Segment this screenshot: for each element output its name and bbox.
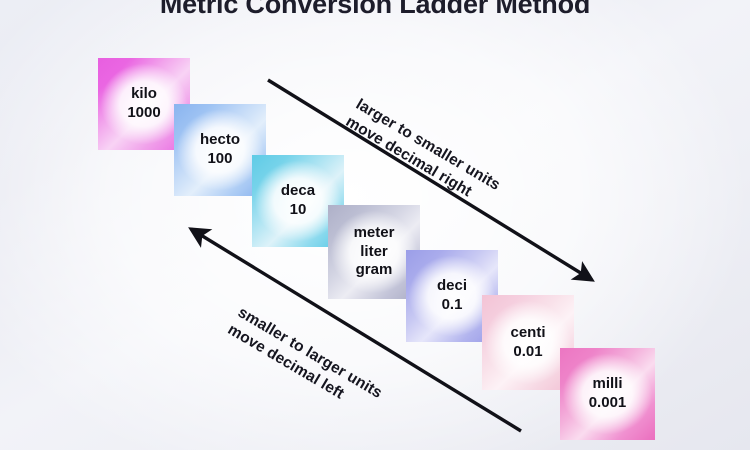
arrow-caption-smaller-to-larger: smaller to larger units move decimal lef… <box>224 303 386 421</box>
ladder-step-hecto-label: hecto <box>200 131 240 150</box>
ladder-step-hecto-value: 100 <box>200 150 240 169</box>
ladder-step-deci-label: deci <box>437 277 467 296</box>
page-title: Metric Conversion Ladder Method <box>0 0 750 20</box>
arrow-caption-larger-to-smaller: larger to smaller units move decimal rig… <box>342 95 504 213</box>
infographic-canvas: Metric Conversion Ladder Method larger t… <box>0 0 750 450</box>
ladder-step-milli-label: milli <box>589 375 627 394</box>
ladder-step-deca-label: deca <box>281 182 315 201</box>
ladder-step-centi-value: 0.01 <box>510 343 545 362</box>
ladder-step-milli-value: 0.001 <box>589 394 627 413</box>
ladder-step-deci-value: 0.1 <box>437 296 467 315</box>
ladder-step-base-label-gram: gram <box>354 261 395 280</box>
ladder-step-base-label-liter: liter <box>354 243 395 262</box>
ladder-step-kilo-label: kilo <box>127 85 160 104</box>
ladder-step-base-label-meter: meter <box>354 224 395 243</box>
ladder-step-centi-label: centi <box>510 324 545 343</box>
ladder-step-milli: milli 0.001 <box>560 348 655 440</box>
ladder-step-kilo-value: 1000 <box>127 104 160 123</box>
ladder-step-deca-value: 10 <box>281 201 315 220</box>
